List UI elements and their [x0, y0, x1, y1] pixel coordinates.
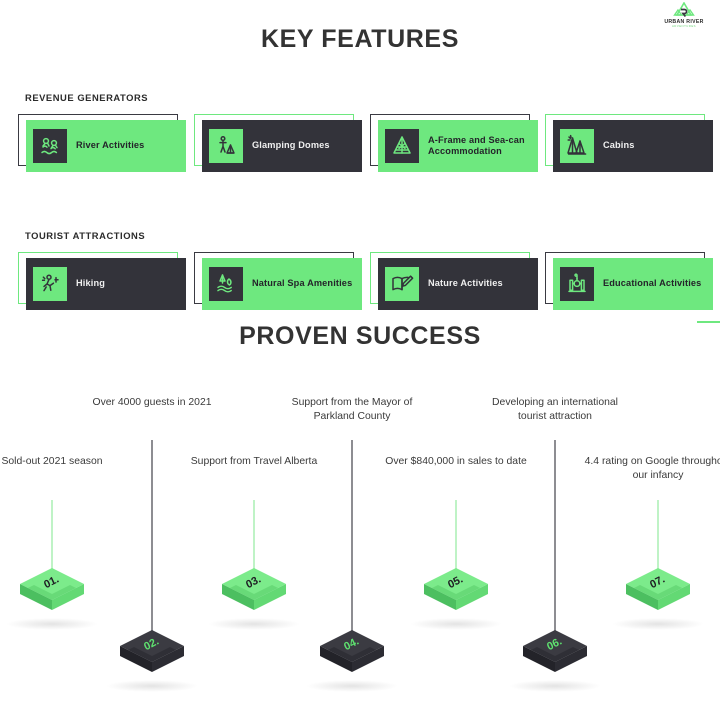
timeline-cube[interactable]: 04. — [318, 628, 386, 684]
feature-card-natural-spa-amenities[interactable]: Natural Spa Amenities — [194, 252, 362, 310]
card-label: Hiking — [76, 278, 105, 290]
feature-card-cabins[interactable]: Cabins — [545, 114, 713, 172]
slide-root: URBAN RIVER ADVENTURES KEY FEATURES PROV… — [0, 0, 720, 720]
feature-card-educational-activities[interactable]: Educational Activities — [545, 252, 713, 310]
card-label: Nature Activities — [428, 278, 503, 290]
card-label: Natural Spa Amenities — [252, 278, 352, 290]
timeline-item-text: 4.4 rating on Google throughout our infa… — [583, 455, 720, 483]
page-title-proven-success: PROVEN SUCCESS — [0, 322, 720, 351]
river-activities-icon — [33, 129, 67, 163]
timeline-item-text: Over 4000 guests in 2021 — [77, 396, 227, 410]
card-label: Educational Activities — [603, 278, 701, 290]
card-body[interactable]: Glamping Domes — [202, 120, 362, 172]
timeline-item-text: Developing an international tourist attr… — [480, 396, 630, 424]
feature-card-river-activities[interactable]: River Activities — [18, 114, 186, 172]
card-body[interactable]: Natural Spa Amenities — [202, 258, 362, 310]
mountain-tree-logo-icon — [671, 2, 697, 19]
timeline-item-text: Sold-out 2021 season — [0, 455, 127, 469]
feature-card-a-frame-and-sea-can-accommodation[interactable]: A-Frame and Sea-can Accommodation — [370, 114, 538, 172]
feature-card-glamping-domes[interactable]: Glamping Domes — [194, 114, 362, 172]
timeline-stem — [51, 500, 52, 572]
timeline-stem — [253, 500, 254, 572]
card-body[interactable]: Cabins — [553, 120, 713, 172]
a-frame-icon — [385, 129, 419, 163]
timeline-stem — [151, 440, 152, 633]
timeline-cube[interactable]: 01. — [18, 566, 86, 622]
timeline-item-text: Over $840,000 in sales to date — [381, 455, 531, 469]
timeline-cube[interactable]: 07. — [624, 566, 692, 622]
card-label: River Activities — [76, 140, 144, 152]
nature-activities-icon — [385, 267, 419, 301]
spa-icon — [209, 267, 243, 301]
timeline-cube[interactable]: 02. — [118, 628, 186, 684]
timeline-cube[interactable]: 05. — [422, 566, 490, 622]
card-body[interactable]: Educational Activities — [553, 258, 713, 310]
card-label: Cabins — [603, 140, 635, 152]
card-label: A-Frame and Sea-can Accommodation — [428, 135, 538, 158]
card-body[interactable]: Hiking — [26, 258, 186, 310]
section-label-tourist-attractions: TOURIST ATTRACTIONS — [25, 230, 145, 241]
cabins-icon — [560, 129, 594, 163]
timeline-cube[interactable]: 03. — [220, 566, 288, 622]
feature-card-hiking[interactable]: Hiking — [18, 252, 186, 310]
timeline-stem — [554, 440, 555, 633]
card-label: Glamping Domes — [252, 140, 330, 152]
green-rule-divider — [697, 321, 720, 323]
card-body[interactable]: A-Frame and Sea-can Accommodation — [378, 120, 538, 172]
timeline-stem — [351, 440, 352, 633]
card-body[interactable]: Nature Activities — [378, 258, 538, 310]
educational-icon — [560, 267, 594, 301]
card-body[interactable]: River Activities — [26, 120, 186, 172]
section-label-revenue-generators: REVENUE GENERATORS — [25, 92, 148, 103]
timeline-cube[interactable]: 06. — [521, 628, 589, 684]
hiking-icon — [33, 267, 67, 301]
timeline-item-text: Support from the Mayor of Parkland Count… — [277, 396, 427, 424]
glamping-domes-icon — [209, 129, 243, 163]
timeline-stem — [455, 500, 456, 572]
timeline-item-text: Support from Travel Alberta — [179, 455, 329, 469]
page-title-key-features: KEY FEATURES — [0, 25, 720, 54]
timeline-stem — [657, 500, 658, 572]
feature-card-nature-activities[interactable]: Nature Activities — [370, 252, 538, 310]
